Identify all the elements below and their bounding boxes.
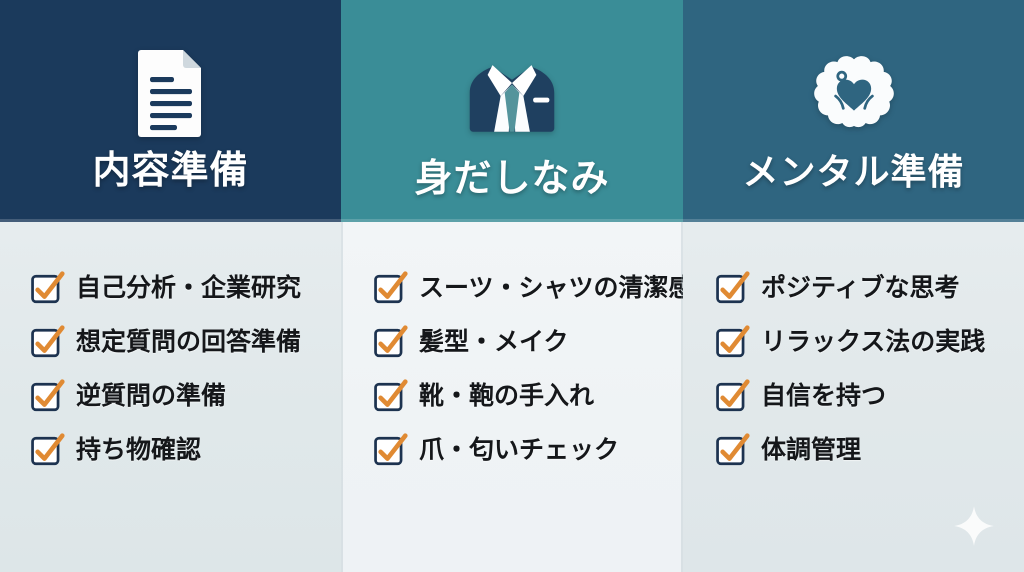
list-item[interactable]: 逆質問の準備	[30, 370, 331, 424]
checklist-grooming: スーツ・シャツの清潔感 髪型・メイク	[341, 262, 683, 478]
list-item[interactable]: 想定質問の回答準備	[30, 316, 331, 370]
list-item-label: 想定質問の回答準備	[76, 329, 301, 357]
list-item-label: 自己分析・企業研究	[76, 275, 301, 303]
list-item[interactable]: 自己分析・企業研究	[30, 262, 331, 316]
checkbox-checked-icon[interactable]	[715, 434, 749, 468]
list-item[interactable]: 爪・匂いチェック	[373, 424, 673, 478]
suit-icon	[460, 44, 564, 148]
column-title: メンタル準備	[742, 154, 964, 190]
column-content-preparation: 内容準備 自己分析・企業研究	[0, 0, 341, 572]
list-item[interactable]: 自信を持つ	[715, 370, 1014, 424]
document-icon	[123, 44, 219, 140]
checklist-content-preparation: 自己分析・企業研究 想定質問の回答準備	[0, 262, 341, 478]
checkbox-checked-icon[interactable]	[373, 272, 407, 306]
checkbox-checked-icon[interactable]	[30, 380, 64, 414]
column-grooming: 身だしなみ スーツ・シャツの清潔感	[341, 0, 683, 572]
list-item[interactable]: 体調管理	[715, 424, 1014, 478]
list-item[interactable]: 靴・鞄の手入れ	[373, 370, 673, 424]
checkbox-checked-icon[interactable]	[373, 380, 407, 414]
list-item-label: 持ち物確認	[76, 437, 201, 465]
checkbox-checked-icon[interactable]	[715, 380, 749, 414]
column-header-mental-preparation: メンタル準備	[683, 0, 1024, 222]
sparkle-icon	[952, 504, 996, 548]
interview-checklist-infographic: 内容準備 自己分析・企業研究	[0, 0, 1024, 572]
list-item-label: スーツ・シャツの清潔感	[419, 275, 694, 303]
column-body-content-preparation: 自己分析・企業研究 想定質問の回答準備	[0, 222, 341, 572]
column-title: 内容準備	[92, 152, 248, 190]
list-item[interactable]: リラックス法の実践	[715, 316, 1014, 370]
checkbox-checked-icon[interactable]	[373, 326, 407, 360]
list-item-label: 逆質問の準備	[76, 383, 226, 411]
column-title: 身だしなみ	[414, 160, 609, 198]
column-body-mental-preparation: ポジティブな思考 リラックス法の実践	[683, 222, 1024, 572]
list-item[interactable]: スーツ・シャツの清潔感	[373, 262, 673, 316]
checkbox-checked-icon[interactable]	[30, 272, 64, 306]
list-item[interactable]: 髪型・メイク	[373, 316, 673, 370]
list-item-label: 靴・鞄の手入れ	[419, 383, 594, 411]
column-header-grooming: 身だしなみ	[341, 0, 683, 222]
list-item-label: ポジティブな思考	[761, 275, 960, 303]
checkbox-checked-icon[interactable]	[30, 326, 64, 360]
column-mental-preparation: メンタル準備 ポジティブな思考	[683, 0, 1024, 572]
checkbox-checked-icon[interactable]	[715, 272, 749, 306]
list-item-label: 髪型・メイク	[419, 329, 569, 357]
list-item-label: リラックス法の実践	[761, 329, 985, 357]
checkbox-checked-icon[interactable]	[373, 434, 407, 468]
checkbox-checked-icon[interactable]	[715, 326, 749, 360]
checklist-mental-preparation: ポジティブな思考 リラックス法の実践	[683, 262, 1024, 478]
list-item-label: 自信を持つ	[761, 383, 886, 411]
list-item[interactable]: 持ち物確認	[30, 424, 331, 478]
column-body-grooming: スーツ・シャツの清潔感 髪型・メイク	[341, 222, 683, 572]
list-item-label: 爪・匂いチェック	[419, 437, 619, 465]
brain-heart-icon	[805, 44, 903, 142]
list-item[interactable]: ポジティブな思考	[715, 262, 1014, 316]
column-header-content-preparation: 内容準備	[0, 0, 341, 222]
list-item-label: 体調管理	[761, 437, 861, 465]
checkbox-checked-icon[interactable]	[30, 434, 64, 468]
